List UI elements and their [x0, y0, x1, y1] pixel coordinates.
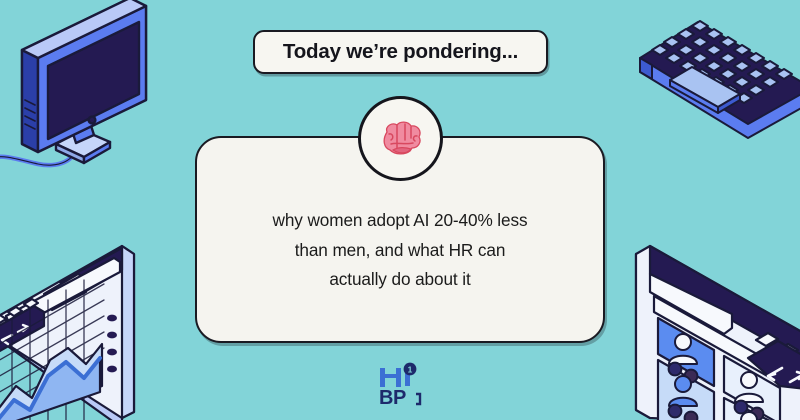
- brain-badge: [358, 96, 443, 181]
- logo-wordmark: BP: [379, 387, 406, 409]
- card-body-text: why women adopt AI 20-40% less than men,…: [239, 206, 562, 295]
- brand-logo: 1 BP: [372, 362, 430, 410]
- monitor-illustration: [0, 0, 164, 192]
- slide-canvas: Today we’re pondering... why women adopt…: [0, 0, 800, 420]
- page-title: Today we’re pondering...: [283, 40, 518, 64]
- keyboard-illustration: [636, 0, 800, 144]
- header-pill: Today we’re pondering...: [253, 30, 548, 74]
- chart-window-illustration: [0, 236, 182, 420]
- brain-icon: [377, 118, 425, 160]
- logo-badge-number: 1: [408, 364, 413, 374]
- video-call-illustration: [628, 230, 800, 420]
